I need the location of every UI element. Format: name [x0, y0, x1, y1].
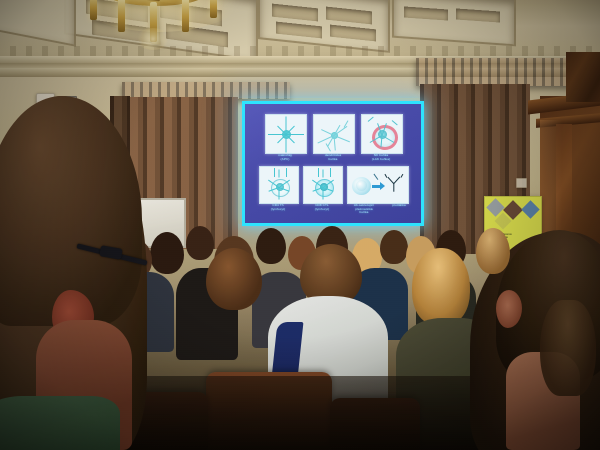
foreground-right-hair-tie	[540, 300, 596, 396]
curtain-valance-right	[416, 58, 576, 86]
cell-image-dendritic	[313, 114, 355, 154]
wood-cornice-top	[566, 52, 600, 102]
audience-head	[150, 232, 184, 274]
cell-label-cd8-ctl: CD8 CTL (lymfocyt)	[299, 204, 345, 211]
cell-image-cd8-ctl	[303, 166, 343, 204]
audience-head	[256, 228, 286, 264]
audience-head-blonde	[412, 248, 470, 324]
cell-label-antibody: protilátka	[379, 204, 419, 208]
cell-image-cd4-th	[259, 166, 299, 204]
cell-image-nk-cell	[361, 114, 403, 154]
cell-label-line3: buňka	[343, 211, 385, 215]
audience-head	[380, 230, 408, 264]
cell-label-line2: buňka	[309, 158, 357, 162]
cell-image-macrophage	[265, 114, 307, 154]
audience-head	[186, 226, 214, 260]
cell-image-plasma-to-antibody	[347, 166, 409, 204]
cell-label-macrophage: makrofág (APC)	[261, 154, 309, 161]
cell-label-cd4-th: CD4 Th (lymfocyt)	[255, 204, 301, 211]
wall-socket-right	[516, 178, 527, 188]
cell-label-dendritic: dendritická buňka	[309, 154, 357, 161]
audience-head-curly	[206, 248, 262, 310]
projection-screen: makrofág (APC) dendritická buňka	[242, 101, 424, 226]
cell-label-line1: protilátka	[379, 204, 419, 208]
cell-label-line2: (lymfocyt)	[299, 208, 345, 212]
audience-head	[476, 228, 510, 274]
cell-label-nk-cell: NK buňka (LAK buňka)	[357, 154, 405, 161]
photo-scene: Lecture hall presentation dentil cornice…	[0, 0, 600, 450]
banner-diamond-blue	[521, 200, 539, 218]
foreground-left-clothing	[0, 396, 120, 450]
cell-label-line2: (lymfocyt)	[255, 208, 301, 212]
cell-label-line2: (LAK buňka)	[357, 158, 405, 162]
cell-label-line2: (APC)	[261, 158, 309, 162]
chandelier-icon	[78, 0, 238, 46]
